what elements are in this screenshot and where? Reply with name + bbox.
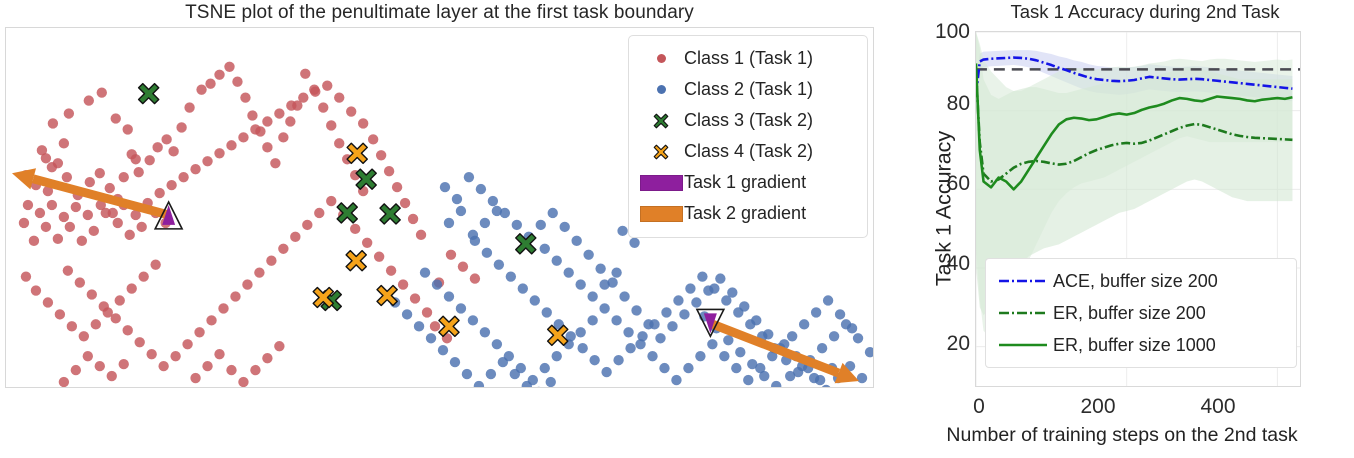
- legend-label: Class 4 (Task 2): [684, 141, 813, 162]
- tsne-legend: Class 1 (Task 1) Class 2 (Task 1) Class …: [628, 35, 868, 238]
- legend-item-class-4[interactable]: Class 4 (Task 2): [638, 136, 857, 167]
- legend-item-task-1-gradient[interactable]: Task 1 gradient: [638, 167, 857, 198]
- figure-root: TSNE plot of the penultimate layer at th…: [0, 0, 1354, 458]
- tsne-panel: TSNE plot of the penultimate layer at th…: [0, 0, 890, 458]
- ace-200-line-icon: [993, 275, 1053, 287]
- class-3-x-marker-icon: [638, 111, 684, 131]
- legend-label: Task 1 gradient: [684, 172, 806, 193]
- legend-item-er-1000[interactable]: ER, buffer size 1000: [993, 329, 1288, 361]
- legend-item-class-2[interactable]: Class 2 (Task 1): [638, 74, 857, 105]
- task-2-gradient-swatch-icon: [638, 206, 684, 222]
- accuracy-legend: ACE, buffer size 200 ER, buffer size 200…: [985, 258, 1297, 368]
- accuracy-panel: Task 1 Accuracy during 2nd Task 100 80 6…: [890, 0, 1354, 458]
- legend-item-task-2-gradient[interactable]: Task 2 gradient: [638, 198, 857, 229]
- x-tick-label: 0: [973, 395, 985, 419]
- y-tick-label: 100: [898, 20, 970, 44]
- tsne-title: TSNE plot of the penultimate layer at th…: [5, 2, 874, 24]
- accuracy-y-axis: 100 80 60 40 20 Task 1 Accuracy: [890, 0, 970, 458]
- x-tick-label: 400: [1200, 395, 1235, 419]
- legend-label: Task 2 gradient: [684, 203, 806, 224]
- accuracy-y-axis-label: Task 1 Accuracy: [932, 59, 957, 359]
- legend-item-er-200[interactable]: ER, buffer size 200: [993, 297, 1288, 329]
- class-1-marker-icon: [638, 54, 684, 63]
- legend-label: Class 3 (Task 2): [684, 110, 813, 131]
- class-4-x-marker-icon: [638, 142, 684, 162]
- legend-item-ace-200[interactable]: ACE, buffer size 200: [993, 265, 1288, 297]
- legend-item-class-1[interactable]: Class 1 (Task 1): [638, 43, 857, 74]
- x-tick-label: 200: [1080, 395, 1115, 419]
- legend-item-class-3[interactable]: Class 3 (Task 2): [638, 105, 857, 136]
- er-200-line-icon: [993, 307, 1053, 319]
- legend-label: ER, buffer size 200: [1053, 303, 1206, 324]
- legend-label: ACE, buffer size 200: [1053, 271, 1218, 292]
- legend-label: Class 2 (Task 1): [684, 79, 813, 100]
- accuracy-title: Task 1 Accuracy during 2nd Task: [913, 1, 1354, 23]
- legend-label: ER, buffer size 1000: [1053, 335, 1216, 356]
- accuracy-x-axis-label: Number of training steps on the 2nd task: [872, 424, 1354, 447]
- legend-label: Class 1 (Task 1): [684, 48, 813, 69]
- er-1000-line-icon: [993, 339, 1053, 351]
- task-1-gradient-swatch-icon: [638, 175, 684, 191]
- class-2-marker-icon: [638, 85, 684, 94]
